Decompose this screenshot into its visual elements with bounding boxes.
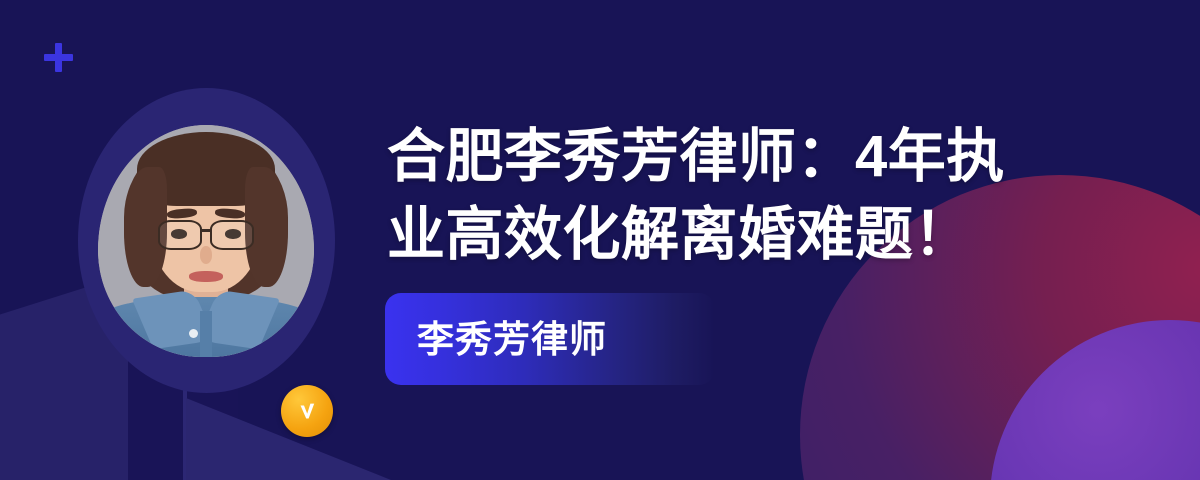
promo-banner: 合肥李秀芳律师：4年执 业高效化解离婚难题！ 李秀芳律师 — [0, 0, 1200, 480]
portrait-glasses-right — [210, 220, 253, 250]
text-content: 合肥李秀芳律师：4年执 业高效化解离婚难题！ — [387, 118, 1047, 274]
portrait-glasses-left — [158, 220, 201, 250]
portrait-shirt-button — [189, 329, 198, 338]
portrait-placket — [200, 311, 213, 357]
avatar — [78, 88, 335, 393]
plus-icon — [44, 43, 73, 72]
headline: 合肥李秀芳律师：4年执 业高效化解离婚难题！ — [387, 118, 1047, 274]
avatar-photo — [98, 125, 314, 357]
portrait-lips — [189, 271, 224, 281]
lawyer-name-pill[interactable]: 李秀芳律师 — [385, 293, 715, 385]
portrait-glasses-bridge — [200, 229, 213, 232]
lawyer-name-label: 李秀芳律师 — [417, 321, 607, 358]
verified-badge-icon — [281, 385, 333, 437]
